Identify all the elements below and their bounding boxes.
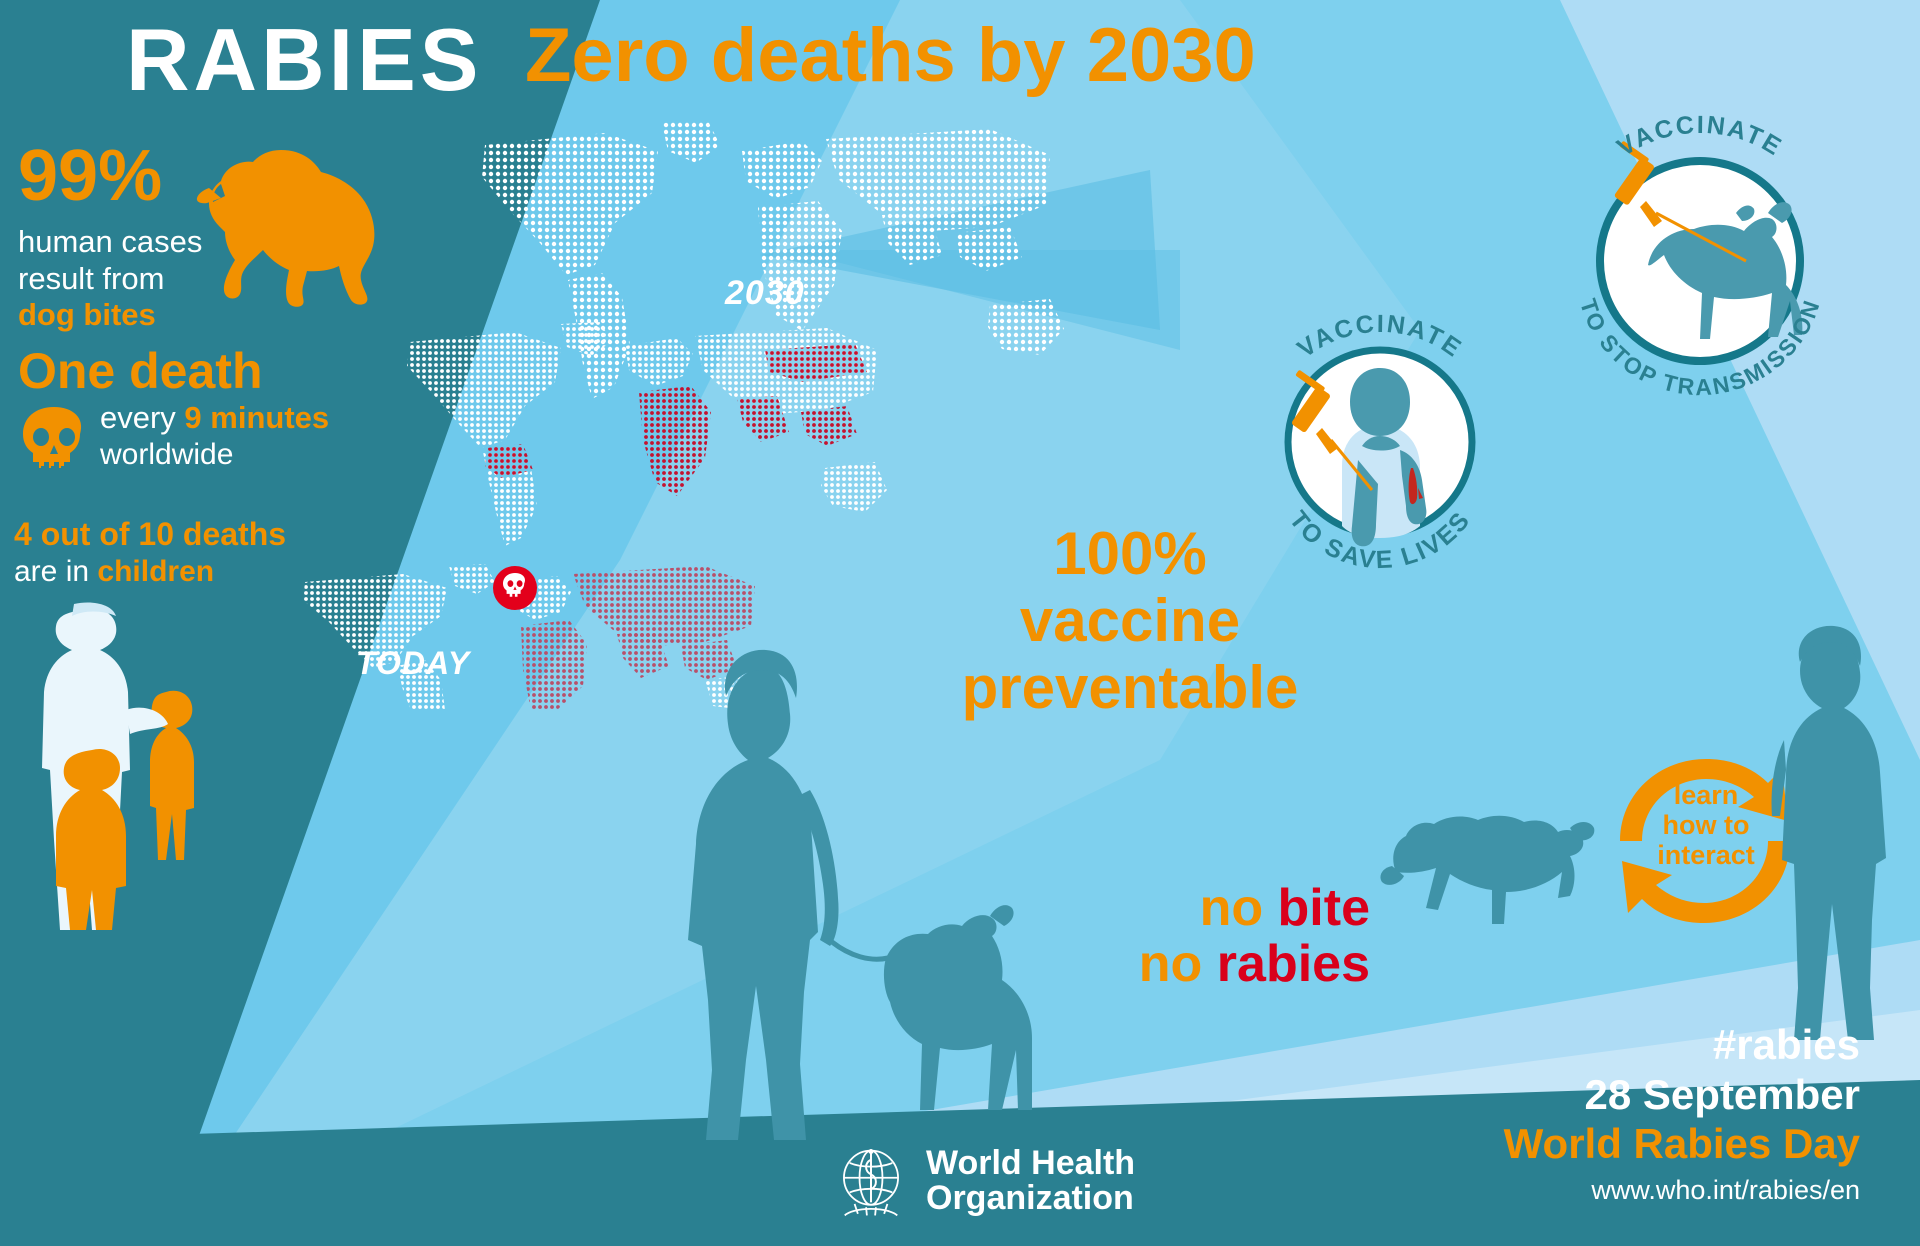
nine-minutes-label: 9 minutes	[184, 400, 329, 435]
skull-icon	[18, 405, 90, 479]
stat-children: 4 out of 10 deaths are in children	[14, 515, 354, 591]
stat-one-death-title: One death	[18, 345, 358, 398]
children-sub-highlight: children	[97, 555, 214, 588]
children-sub-prefix: are in	[14, 555, 97, 588]
mother-children-icon	[14, 600, 244, 930]
footer-event: World Rabies Day	[1350, 1119, 1860, 1169]
stat-one-death-detail: every 9 minutes worldwide	[100, 400, 360, 472]
footer-url[interactable]: www.who.int/rabies/en	[1350, 1175, 1860, 1206]
world-map-transition	[355, 320, 915, 550]
callout-no-bite-no-rabies: no bite no rabies	[1020, 880, 1370, 992]
worldwide-label: worldwide	[100, 437, 360, 472]
who-name-line-2: Organization	[926, 1181, 1135, 1216]
vp-line-3: preventable	[960, 654, 1300, 721]
badge2-top-text: VACCINATE	[1612, 111, 1787, 162]
badge-save-lives[interactable]: VACCINATE TO SAVE LIVES	[1230, 290, 1530, 590]
rabies-label: rabies	[1217, 935, 1370, 993]
page-title: RABIES	[126, 16, 483, 104]
footer-hashtag: #rabies	[1350, 1020, 1860, 1070]
who-name-line-1: World Health	[926, 1146, 1135, 1181]
who-logo-block: World Health Organization	[830, 1140, 1135, 1222]
skull-marker-icon	[492, 565, 538, 611]
footer-right: #rabies 28 September World Rabies Day ww…	[1350, 1020, 1860, 1206]
svg-text:VACCINATE: VACCINATE	[1612, 111, 1787, 162]
no-label-1: no	[1200, 879, 1278, 937]
footer-date: 28 September	[1350, 1070, 1860, 1120]
standing-person-silhouette	[1760, 620, 1910, 1050]
playful-dog-silhouette	[1380, 780, 1620, 940]
children-headline: 4 out of 10 deaths	[14, 515, 354, 553]
headline: Zero deaths by 2030	[525, 18, 1256, 94]
no-label-2: no	[1139, 935, 1217, 993]
badge-stop-transmission[interactable]: VACCINATE TO STOP TRANSMISSION	[1540, 95, 1860, 415]
rabies-infographic-poster: RABIES Zero deaths by 2030	[0, 0, 1920, 1246]
every-label: every	[100, 400, 184, 435]
vp-line-2: vaccine	[960, 587, 1300, 654]
bite-label: bite	[1278, 879, 1370, 937]
map-label-today: TODAY	[356, 645, 470, 682]
map-label-2030: 2030	[725, 274, 805, 313]
dog-icon	[185, 140, 400, 310]
who-emblem-icon	[830, 1140, 912, 1222]
